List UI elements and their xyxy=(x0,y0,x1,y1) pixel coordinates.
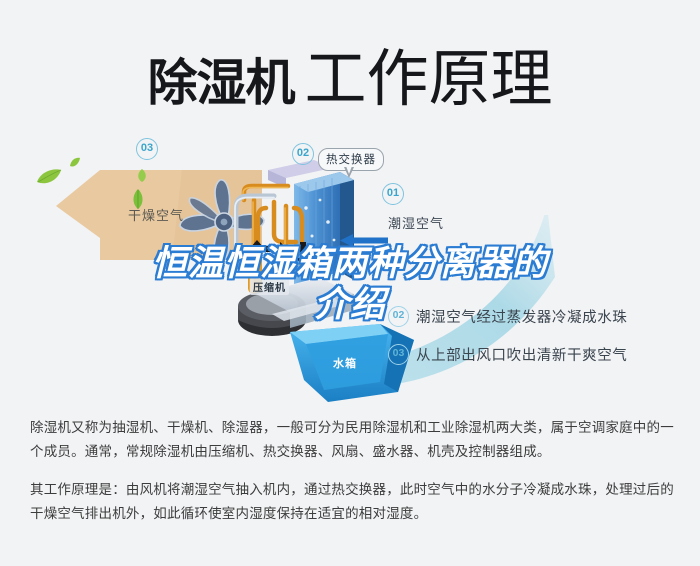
step-text-02: 潮湿空气经过蒸发器冷凝成水珠 xyxy=(416,306,627,327)
article-body: 除湿机又称为抽湿机、干燥机、除湿器，一般可分为民用除湿机和工业除湿机两大类，属于… xyxy=(30,416,675,536)
paragraph-2: 其工作原理是：由风机将潮湿空气抽入机内，通过热交换器，此时空气中的水分子冷凝成水… xyxy=(30,478,675,526)
list-item: 02 潮湿空气经过蒸发器冷凝成水珠 xyxy=(388,297,688,335)
step-badge-03: 03 xyxy=(388,344,409,365)
paragraph-1: 除湿机又称为抽湿机、干燥机、除湿器，一般可分为民用除湿机和工业除湿机两大类，属于… xyxy=(30,416,675,464)
steps-list: 02 潮湿空气经过蒸发器冷凝成水珠 03 从上部出风口吹出清新干爽空气 xyxy=(388,297,688,373)
leaf-icon xyxy=(136,168,149,188)
page-title-part1: 除湿机 xyxy=(147,55,294,111)
air-inlet-arrow xyxy=(340,234,388,247)
page-title-part2: 工作原理 xyxy=(304,45,552,114)
diagram-badge-01: 01 xyxy=(382,183,404,205)
leaf-icon xyxy=(69,155,81,173)
humid-air-caption: 潮湿空气 xyxy=(388,213,444,232)
diagram-badge-02: 02 xyxy=(292,143,314,165)
page-title: 除湿机工作原理 xyxy=(0,28,700,118)
infographic-page: 除湿机工作原理 xyxy=(0,0,700,566)
dry-air-caption: 干燥空气 xyxy=(128,205,184,224)
step-badge-02: 02 xyxy=(388,306,409,327)
list-item: 03 从上部出风口吹出清新干爽空气 xyxy=(388,335,688,373)
leaf-icon xyxy=(36,168,62,191)
water-tank-label: 水箱 xyxy=(333,355,357,371)
diagram-badge-03: 03 xyxy=(136,138,158,160)
compressor-label: 压缩机 xyxy=(250,278,289,295)
step-text-03: 从上部出风口吹出清新干爽空气 xyxy=(416,344,627,365)
callout-tail-inner-icon xyxy=(346,166,352,174)
